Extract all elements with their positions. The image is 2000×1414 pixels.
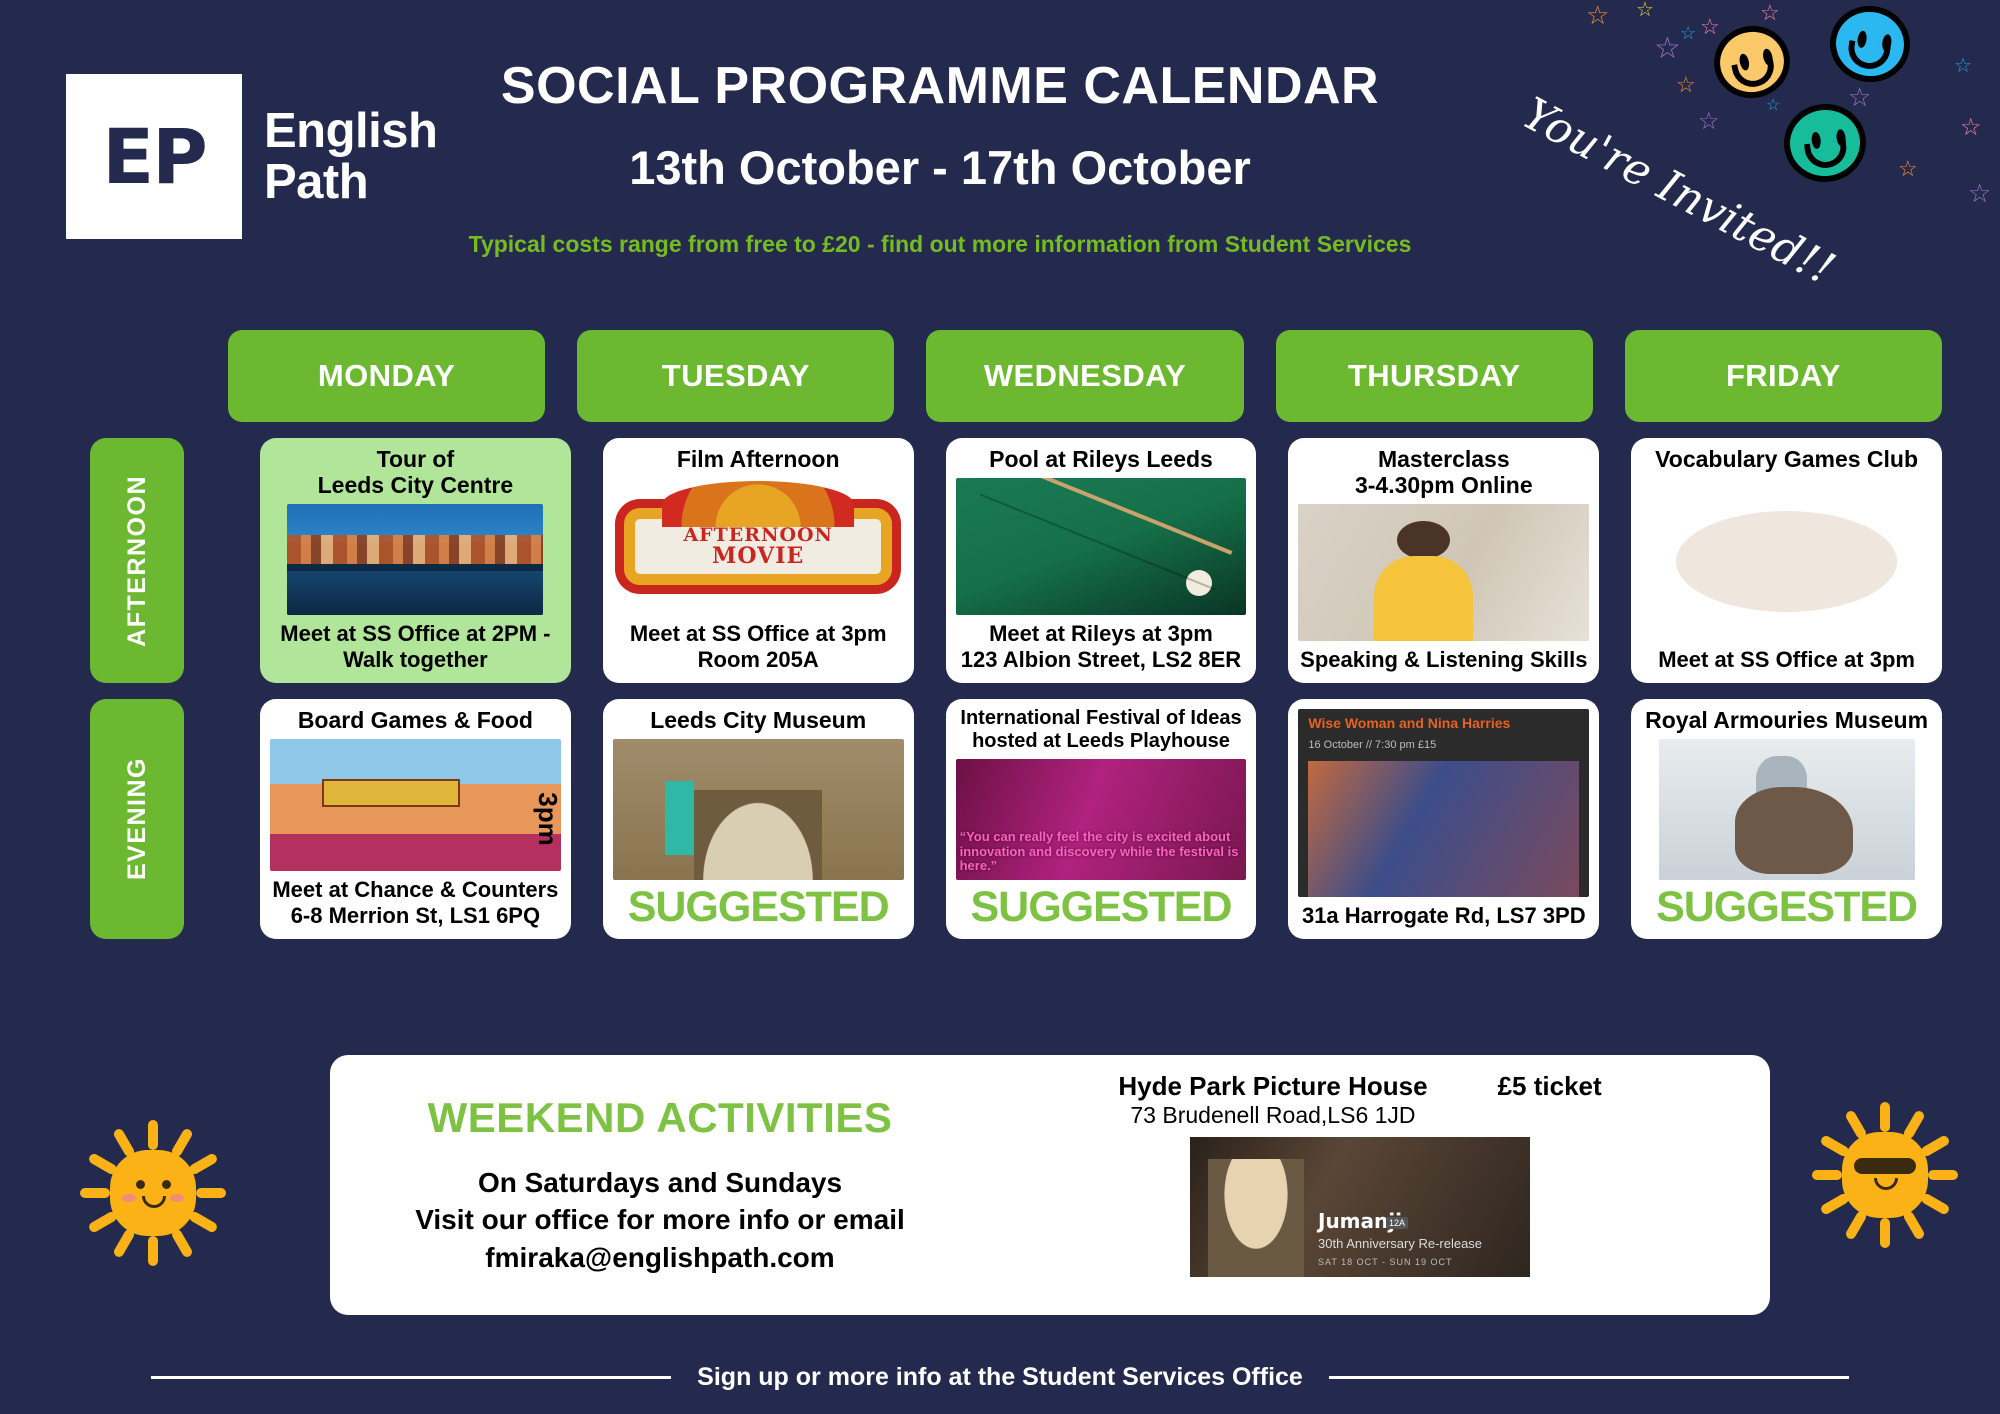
event-title-line1: Vocabulary Games Club: [1641, 446, 1932, 472]
event-thumbnail-leeds-city: [287, 504, 543, 615]
sun-sunglasses-icon: [1810, 1100, 1960, 1250]
footer-divider-left: [151, 1376, 671, 1379]
logo-mark-text: EP: [102, 112, 206, 201]
afternoon-cards: Tour of Leeds City Centre Meet at SS Off…: [260, 438, 1942, 683]
event-title-line1: Royal Armouries Museum: [1641, 707, 1932, 733]
event-title-line1: Pool at Rileys Leeds: [956, 446, 1247, 472]
event-card-wednesday-afternoon[interactable]: Pool at Rileys Leeds Meet at Rileys at 3…: [946, 438, 1257, 683]
event-detail-line2: 6-8 Merrion St, LS1 6PQ: [270, 903, 561, 929]
star-icon: ☆: [1848, 84, 1871, 110]
day-header-wednesday: WEDNESDAY: [926, 330, 1243, 422]
star-icon: ☆: [1680, 24, 1696, 42]
event-title-line1: Board Games & Food: [270, 707, 561, 733]
star-icon: ☆: [1968, 180, 1991, 206]
star-icon: ☆: [1636, 0, 1654, 20]
marquee-fan-icon: [662, 481, 854, 528]
suggested-badge: SUGGESTED: [970, 886, 1231, 929]
sun-smiley-icon: [78, 1118, 228, 1268]
brand-logo: EP English Path: [66, 74, 437, 239]
event-card-tuesday-evening[interactable]: Leeds City Museum SUGGESTED: [603, 699, 914, 939]
thumbnail-quote: “You can really feel the city is excited…: [960, 830, 1243, 874]
suggested-badge: SUGGESTED: [628, 886, 889, 929]
cost-note: Typical costs range from free to £20 - f…: [440, 231, 1440, 258]
star-icon: ☆: [1954, 56, 1972, 76]
poster-rating: 12A: [1386, 1217, 1408, 1229]
time-badge: 3pm: [533, 792, 564, 845]
youre-invited-badge: You're Invited!!: [1514, 88, 1843, 295]
event-thumbnail-games-circle: [1641, 478, 1932, 641]
event-detail-line1: Meet at Chance & Counters: [270, 877, 561, 903]
suggested-badge: SUGGESTED: [1656, 886, 1917, 929]
smiley-face-yellow-icon: [1707, 19, 1796, 105]
day-header-friday: FRIDAY: [1625, 330, 1942, 422]
event-thumbnail-leeds-playhouse: “You can really feel the city is excited…: [956, 759, 1247, 880]
star-icon: ☆: [1898, 158, 1918, 180]
star-icon: ☆: [1700, 16, 1720, 38]
event-thumbnail-leeds-city-museum: [613, 739, 904, 880]
day-header-tuesday: TUESDAY: [577, 330, 894, 422]
venue-header: Hyde Park Picture House 73 Brudenell Roa…: [1118, 1071, 1601, 1129]
weekend-line1: On Saturdays and Sundays: [415, 1164, 905, 1202]
event-detail-line1: Meet at SS Office at 2PM -: [270, 621, 561, 647]
poster-character: [1208, 1159, 1304, 1277]
star-icon: ☆: [1654, 34, 1681, 64]
brand-name-line1: English: [264, 106, 437, 157]
ticket-price: £5 ticket: [1498, 1071, 1602, 1102]
calendar-grid: MONDAY TUESDAY WEDNESDAY THURSDAY FRIDAY…: [0, 330, 2000, 939]
venue-address: 73 Brudenell Road,LS6 1JD: [1118, 1102, 1427, 1129]
day-header-thursday: THURSDAY: [1276, 330, 1593, 422]
event-card-thursday-afternoon[interactable]: Masterclass 3-4.30pm Online Speaking & L…: [1288, 438, 1599, 683]
event-card-wednesday-evening[interactable]: International Festival of Ideas hosted a…: [946, 699, 1257, 939]
footer-divider-right: [1329, 1376, 1849, 1379]
event-thumbnail-royal-armouries: [1659, 739, 1915, 880]
event-card-thursday-evening[interactable]: Wise Woman and Nina Harries 16 October /…: [1288, 699, 1599, 939]
day-header-monday: MONDAY: [228, 330, 545, 422]
weekend-activities-panel: WEEKEND ACTIVITIES On Saturdays and Sund…: [330, 1055, 1770, 1315]
afternoon-slot-label-text: AFTERNOON: [123, 475, 152, 647]
event-thumbnail-online-student: [1298, 504, 1589, 641]
afternoon-slot-label: AFTERNOON: [90, 438, 184, 683]
star-icon: ☆: [1960, 116, 1982, 140]
day-header-row: MONDAY TUESDAY WEDNESDAY THURSDAY FRIDAY: [0, 330, 2000, 422]
event-card-friday-evening[interactable]: Royal Armouries Museum SUGGESTED: [1631, 699, 1942, 939]
evening-cards: Board Games & Food 3pm Meet at Chance & …: [260, 699, 1942, 939]
event-title-line1: Film Afternoon: [613, 446, 904, 472]
star-icon: ☆: [1698, 110, 1720, 134]
poster-dates: SAT 18 OCT - SUN 19 OCT: [1318, 1257, 1453, 1267]
weekend-title: WEEKEND ACTIVITIES: [428, 1094, 893, 1142]
evening-slot-label-text: EVENING: [123, 757, 152, 880]
page-header: EP English Path SOCIAL PROGRAMME CALENDA…: [0, 0, 2000, 300]
event-thumbnail-pool-table: [956, 478, 1247, 615]
ep-logo-icon: EP: [66, 74, 242, 239]
star-icon: ☆: [1760, 2, 1780, 24]
event-detail-line1: Meet at SS Office at 3pm: [1641, 647, 1932, 673]
film-poster-jumanji: Jumanji 12A 30th Anniversary Re-release …: [1190, 1137, 1530, 1277]
weekend-email[interactable]: fmiraka@englishpath.com: [415, 1239, 905, 1277]
weekend-line2: Visit our office for more info or email: [415, 1201, 905, 1239]
smiley-face-blue-icon: [1825, 1, 1915, 87]
star-icon: ☆: [1766, 98, 1780, 114]
evening-slot-label: EVENING: [90, 699, 184, 939]
star-icon: ☆: [1586, 2, 1609, 28]
date-range: 13th October - 17th October: [440, 140, 1440, 195]
page-title: SOCIAL PROGRAMME CALENDAR: [440, 56, 1440, 116]
evening-row: EVENING Board Games & Food 3pm Meet at C…: [0, 699, 2000, 939]
event-detail-line1: Meet at Rileys at 3pm: [956, 621, 1247, 647]
event-detail-line1: Meet at SS Office at 3pm: [613, 621, 904, 647]
event-thumbnail-chance-and-counters: [270, 739, 561, 871]
brand-name: English Path: [264, 106, 437, 208]
event-title-line1: Masterclass: [1298, 446, 1589, 472]
event-card-tuesday-afternoon[interactable]: Film Afternoon AFTERNOON MOVIE Meet at S…: [603, 438, 914, 683]
event-title-line2: Leeds City Centre: [270, 472, 561, 498]
event-thumbnail-gig-poster: Wise Woman and Nina Harries 16 October /…: [1298, 709, 1589, 897]
decorative-corner: ☆ ☆ ☆ ☆ ☆ ☆ ☆ ☆ ☆ ☆ ☆ ☆ ☆ ☆ ☆ You're Inv…: [1530, 0, 2000, 270]
weekend-text: On Saturdays and Sundays Visit our offic…: [415, 1164, 905, 1277]
poster-subtitle: 30th Anniversary Re-release: [1318, 1236, 1482, 1251]
footer-text: Sign up or more info at the Student Serv…: [697, 1363, 1303, 1392]
gig-title: Wise Woman and Nina Harries: [1308, 715, 1510, 731]
event-detail-line1: 31a Harrogate Rd, LS7 3PD: [1298, 903, 1589, 929]
event-detail-line2: 123 Albion Street, LS2 8ER: [956, 647, 1247, 673]
title-block: SOCIAL PROGRAMME CALENDAR 13th October -…: [440, 56, 1440, 258]
event-card-friday-afternoon[interactable]: Vocabulary Games Club Meet at SS Office …: [1631, 438, 1942, 683]
event-title-line1: Tour of: [270, 446, 561, 472]
event-card-monday-afternoon[interactable]: Tour of Leeds City Centre Meet at SS Off…: [260, 438, 571, 683]
star-icon: ☆: [1676, 74, 1696, 96]
marquee-line2: MOVIE: [712, 545, 804, 567]
event-title-line1: Leeds City Museum: [613, 707, 904, 733]
event-card-monday-evening[interactable]: Board Games & Food 3pm Meet at Chance & …: [260, 699, 571, 939]
event-thumbnail-afternoon-movie: AFTERNOON MOVIE: [613, 478, 904, 615]
event-title-line1: International Festival of Ideas: [956, 707, 1247, 730]
weekend-info: WEEKEND ACTIVITIES On Saturdays and Sund…: [350, 1065, 970, 1305]
star-icon: ☆: [1860, 44, 1876, 62]
event-detail-line2: Room 205A: [613, 647, 904, 673]
event-detail-line2: Walk together: [270, 647, 561, 673]
venue-name: Hyde Park Picture House: [1118, 1071, 1427, 1102]
page-footer: Sign up or more info at the Student Serv…: [0, 1363, 2000, 1392]
event-title-line2: 3-4.30pm Online: [1298, 472, 1589, 498]
weekend-venue: Hyde Park Picture House 73 Brudenell Roa…: [970, 1065, 1750, 1305]
brand-name-line2: Path: [264, 157, 437, 208]
gig-photo: [1308, 761, 1579, 897]
event-detail-line1: Speaking & Listening Skills: [1298, 647, 1589, 673]
smiley-face-green-icon: [1780, 100, 1870, 186]
gig-subtitle: 16 October // 7:30 pm £15: [1308, 739, 1436, 751]
afternoon-row: AFTERNOON Tour of Leeds City Centre Meet…: [0, 438, 2000, 683]
event-title-line2: hosted at Leeds Playhouse: [956, 730, 1247, 753]
